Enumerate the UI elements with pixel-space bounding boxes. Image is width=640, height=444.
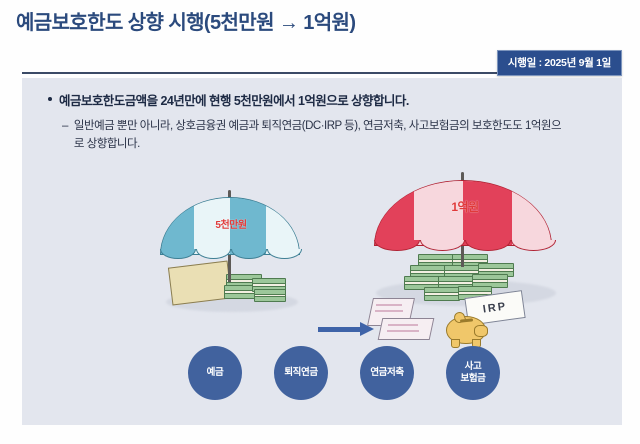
umbrella-before-icon: 5천만원 — [160, 190, 302, 300]
bullet-dot-icon — [48, 97, 52, 101]
infographic-page: 예금보호한도 상향 시행(5천만원 → 1억원) 시행일 : 2025년 9월 … — [0, 0, 640, 444]
secondary-bullet-text: 일반예금 뿐만 아니라, 상호금융권 예금과 퇴직연금(DC·IRP 등), 연… — [74, 118, 566, 154]
bankbook-icon — [370, 298, 434, 340]
category-label: 예금 — [207, 367, 224, 379]
left-scene-before: 5천만원 — [152, 184, 312, 320]
content-panel: 예금보호한도금액을 24년만에 현행 5천만원에서 1억원으로 상향합니다. –… — [22, 78, 622, 425]
bullet-block: 예금보호한도금액을 24년만에 현행 5천만원에서 1억원으로 상향합니다. –… — [48, 90, 606, 154]
category-circle-accident-insurance: 사고 보험금 — [446, 346, 500, 400]
piggy-bank-icon — [446, 310, 490, 348]
dash-marker-icon: – — [62, 118, 68, 136]
secondary-bullet: – 일반예금 뿐만 아니라, 상호금융권 예금과 퇴직연금(DC·IRP 등),… — [62, 118, 606, 154]
category-circle-deposit: 예금 — [188, 346, 242, 400]
primary-bullet: 예금보호한도금액을 24년만에 현행 5천만원에서 1억원으로 상향합니다. — [48, 90, 606, 109]
illustration-area: 5천만원 — [22, 170, 622, 360]
umbrella-after-label: 1억원 — [374, 198, 556, 215]
category-label-line2: 보험금 — [460, 373, 485, 385]
category-circle-row: 예금 퇴직연금 연금저축 사고 보험금 — [22, 346, 622, 422]
category-circle-pension-savings: 연금저축 — [360, 346, 414, 400]
right-scene-after: IRP — [360, 170, 570, 350]
category-label-line1: 사고 — [460, 361, 485, 373]
category-label: 연금저축 — [370, 367, 403, 379]
umbrella-before-label: 5천만원 — [160, 216, 302, 231]
umbrella-after-icon: 1억원 — [374, 172, 556, 288]
category-circle-retirement-pension: 퇴직연금 — [274, 346, 328, 400]
effective-date-badge: 시행일 : 2025년 9월 1일 — [497, 50, 622, 76]
primary-bullet-text: 예금보호한도금액을 24년만에 현행 5천만원에서 1억원으로 상향합니다. — [59, 90, 409, 109]
category-label: 퇴직연금 — [284, 367, 317, 379]
page-title: 예금보호한도 상향 시행(5천만원 → 1억원) — [16, 6, 355, 35]
